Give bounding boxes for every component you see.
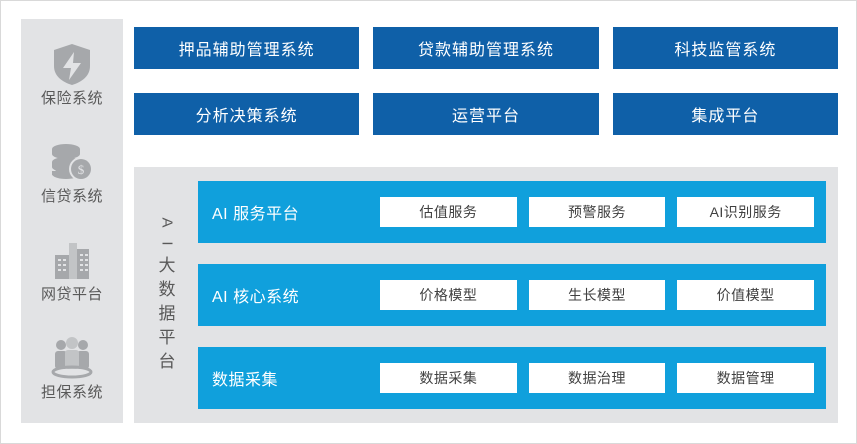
sidebar-item-online-loan[interactable]: 网贷平台 [21,223,123,318]
platform-card-ai-recognition-service[interactable]: AI识别服务 [677,197,814,227]
system-box-integration[interactable]: 集成平台 [613,93,838,135]
platform-card-data-collection[interactable]: 数据采集 [380,363,517,393]
platform-row-cards: 价格模型 生长模型 价值模型 [380,280,814,310]
top-systems-area: 押品辅助管理系统 贷款辅助管理系统 科技监管系统 分析决策系统 运营平台 集成平… [134,19,838,141]
top-systems-row-1: 押品辅助管理系统 贷款辅助管理系统 科技监管系统 [134,27,838,69]
platform-card-price-model[interactable]: 价格模型 [380,280,517,310]
platform-row-label: 数据采集 [212,366,380,390]
sidebar-item-label: 网贷平台 [41,286,103,304]
vertical-title-char: A [158,217,175,227]
sidebar-item-insurance[interactable]: 保险系统 [21,27,123,122]
vertical-title-char: 数 [159,280,176,300]
sidebar-item-label: 担保系统 [41,384,103,402]
vertical-title-char: 平 [159,328,176,348]
platform-row-data-collection: 数据采集 数据采集 数据治理 数据管理 [198,347,826,409]
people-group-icon [49,335,95,381]
platform-row-label: AI 核心系统 [212,283,380,307]
platform-card-data-management[interactable]: 数据管理 [677,363,814,393]
platform-row-cards: 估值服务 预警服务 AI识别服务 [380,197,814,227]
sidebar-item-label: 保险系统 [41,90,103,108]
system-box-analysis-decision[interactable]: 分析决策系统 [134,93,359,135]
vertical-title-char: 大 [159,256,176,276]
vertical-title-char: I [158,241,175,245]
platform-rows: AI 服务平台 估值服务 预警服务 AI识别服务 AI 核心系统 价格模型 生长… [192,181,826,409]
platform-row-ai-core: AI 核心系统 价格模型 生长模型 价值模型 [198,264,826,326]
system-box-tech-supervision[interactable]: 科技监管系统 [613,27,838,69]
system-box-operations[interactable]: 运营平台 [373,93,598,135]
platform-row-ai-service: AI 服务平台 估值服务 预警服务 AI识别服务 [198,181,826,243]
vertical-title-char: 据 [159,304,176,324]
platform-row-label: AI 服务平台 [212,200,380,224]
vertical-title-char: 台 [159,352,176,372]
sidebar: 保险系统 $ 信贷系统 [21,19,123,423]
sidebar-item-label: 信贷系统 [41,188,103,206]
platform-card-data-governance[interactable]: 数据治理 [529,363,666,393]
system-box-collateral[interactable]: 押品辅助管理系统 [134,27,359,69]
platform-card-value-model[interactable]: 价值模型 [677,280,814,310]
system-box-loan[interactable]: 贷款辅助管理系统 [373,27,598,69]
platform-card-valuation-service[interactable]: 估值服务 [380,197,517,227]
architecture-diagram: 保险系统 $ 信贷系统 [0,0,857,444]
top-systems-row-2: 分析决策系统 运营平台 集成平台 [134,93,838,135]
platform-vertical-title: A I 大 数 据 平 台 [142,181,192,409]
ai-bigdata-platform-panel: A I 大 数 据 平 台 AI 服务平台 估值服务 预警服务 AI识别服务 A… [134,167,838,423]
platform-card-alert-service[interactable]: 预警服务 [529,197,666,227]
svg-text:$: $ [78,162,85,177]
platform-row-cards: 数据采集 数据治理 数据管理 [380,363,814,393]
buildings-icon [49,237,95,283]
sidebar-item-guarantee[interactable]: 担保系统 [21,321,123,416]
shield-bolt-icon [49,41,95,87]
sidebar-item-credit[interactable]: $ 信贷系统 [21,125,123,220]
coins-dollar-icon: $ [49,139,95,185]
platform-card-growth-model[interactable]: 生长模型 [529,280,666,310]
